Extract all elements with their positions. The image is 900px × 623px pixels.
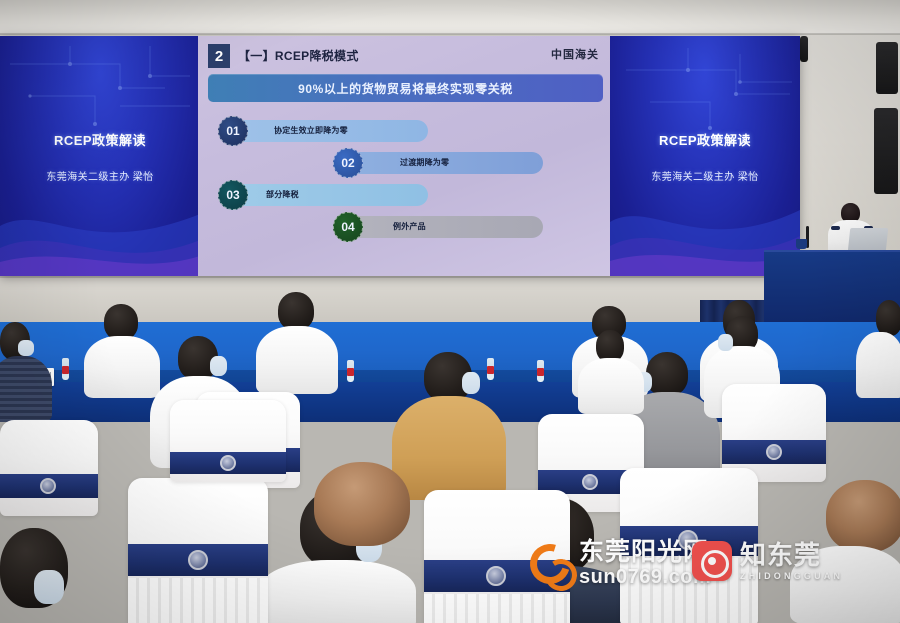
attendee-head (646, 352, 688, 396)
chair (0, 420, 98, 516)
chair-buckle (766, 444, 782, 460)
face-mask (462, 372, 480, 394)
attendee-shirt (258, 560, 416, 623)
eye-circle-icon (692, 541, 732, 581)
screen-edge-bracket (800, 36, 808, 62)
watermark-zdg-en: ZHIDONGGUAN (740, 572, 843, 581)
list-item: 02 过渡期降为零 (208, 148, 603, 178)
chair-buckle (220, 455, 236, 471)
item-number: 03 (218, 180, 248, 210)
ceiling-strip (0, 0, 900, 34)
face-mask (18, 340, 34, 356)
water-bottle (487, 358, 494, 380)
item-label: 协定生效立即降为零 (274, 125, 348, 136)
face-mask (210, 356, 227, 376)
attendee-shirt (256, 326, 338, 394)
list-item: 03 部分降税 (208, 180, 603, 210)
cup (796, 239, 807, 249)
slide-header: 2 【一】RCEP降税模式 中国海关 (208, 44, 603, 68)
sun-spiral-icon (528, 542, 572, 586)
face-mask (34, 570, 64, 604)
chair-buckle (188, 550, 208, 570)
attendee-head (278, 292, 314, 330)
chair-skirt (128, 578, 268, 623)
attendee-shirt (0, 356, 52, 422)
item-bar (343, 216, 543, 238)
item-label: 部分降税 (266, 189, 299, 200)
watermark-sun0769: 东莞阳光网 sun0769.com (528, 540, 711, 587)
attendee-shirt (856, 332, 900, 398)
chair (128, 478, 268, 623)
screen-left-panel: RCEP政策解读 东莞海关二级主办 梁怡 (0, 36, 200, 276)
slide-content: 2 【一】RCEP降税模式 中国海关 90%以上的货物贸易将最终实现零关税 01… (198, 36, 613, 276)
item-label: 过渡期降为零 (400, 157, 449, 168)
face-mask (718, 334, 733, 351)
chair-buckle (582, 474, 598, 490)
item-number: 01 (218, 116, 248, 146)
water-bottle (62, 358, 69, 380)
attendee-head (104, 304, 138, 340)
china-customs-logo-icon: 中国海关 (551, 46, 599, 62)
right-panel-subtitle: 东莞海关二级主办 梁怡 (610, 168, 800, 183)
item-label: 例外产品 (393, 221, 426, 232)
water-bottle (347, 360, 354, 382)
left-panel-title: RCEP政策解读 (0, 130, 200, 149)
watermark-zhidongguan: 知东莞 ZHIDONGGUAN (692, 541, 843, 581)
water-bottle (537, 360, 544, 382)
wall-seam-top (0, 33, 900, 35)
speaker-top-right (876, 42, 898, 94)
attendee-shirt (392, 396, 506, 500)
item-number: 04 (333, 212, 363, 242)
attendee-shirt (578, 358, 644, 414)
list-item: 01 协定生效立即降为零 (208, 116, 603, 146)
attendee-head (314, 462, 410, 546)
conference-room-photo: RCEP政策解读 东莞海关二级主办 梁怡 2 【一】RCEP降税模式 中国海关 … (0, 0, 900, 623)
left-panel-subtitle: 东莞海关二级主办 梁怡 (0, 168, 200, 183)
attendee-shirt (84, 336, 160, 398)
speaker-right (874, 108, 898, 194)
attendee-head (876, 300, 900, 336)
chair-skirt (424, 594, 570, 623)
screen-right-panel: RCEP政策解读 东莞海关二级主办 梁怡 (610, 36, 800, 276)
slide-heading: 【一】RCEP降税模式 (238, 47, 359, 64)
slide-banner: 90%以上的货物贸易将最终实现零关税 (208, 74, 603, 102)
list-item: 04 例外产品 (208, 212, 603, 242)
slide-item-list: 01 协定生效立即降为零 02 过渡期降为零 03 部分降税 (208, 116, 603, 244)
item-number: 02 (333, 148, 363, 178)
presenter-laptop (848, 228, 889, 252)
chair-buckle (486, 566, 506, 586)
watermark-zdg-cn: 知东莞 (740, 542, 843, 568)
slide-section-number: 2 (208, 44, 230, 68)
right-panel-title: RCEP政策解读 (610, 130, 800, 149)
epaulette-left (831, 226, 840, 230)
led-presentation-screen: RCEP政策解读 东莞海关二级主办 梁怡 2 【一】RCEP降税模式 中国海关 … (0, 36, 800, 276)
chair (170, 400, 286, 482)
item-bar (228, 184, 428, 206)
chair-buckle (40, 478, 56, 494)
